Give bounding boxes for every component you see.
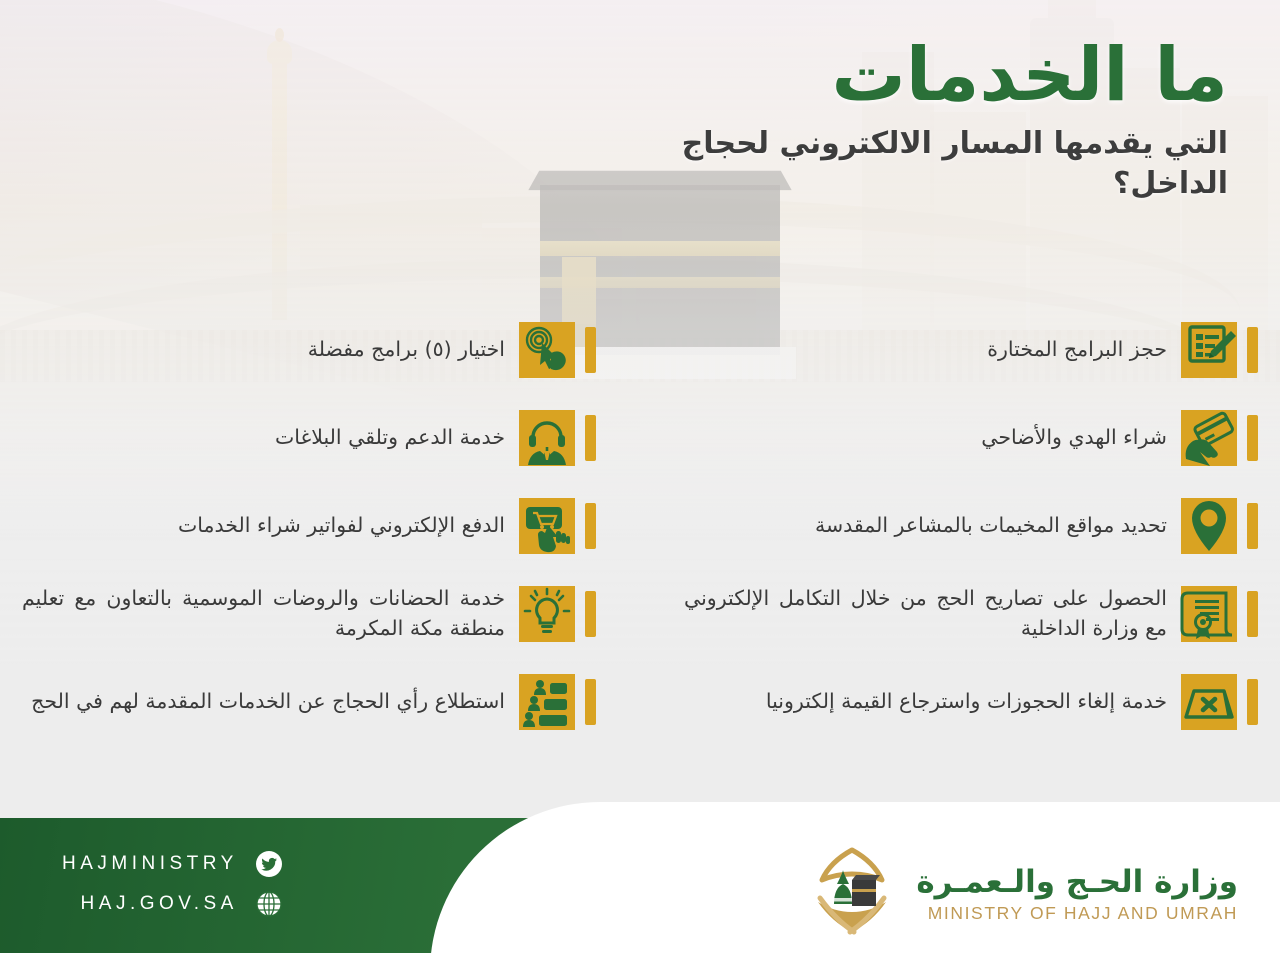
accent-bar [585,327,596,373]
service-item[interactable]: استطلاع رأي الحجاج عن الخدمات المقدمة له… [22,658,596,746]
service-item[interactable]: حجز البرامج المختارة [684,306,1258,394]
page-title: ما الخدمات [668,36,1228,114]
service-item[interactable]: الدفع الإلكتروني لفواتير شراء الخدمات [22,482,596,570]
icon-tile-group [1181,322,1258,378]
service-label: استطلاع رأي الحجاج عن الخدمات المقدمة له… [22,687,505,717]
infographic-poster: ما الخدمات التي يقدمها المسار الالكتروني… [0,0,1280,953]
social-row-website[interactable]: HAJ.GOV.SA [62,884,282,924]
ministry-brand-text: وزارة الحـج والـعمـرة MINISTRY OF HAJJ A… [916,864,1238,924]
accent-bar [585,679,596,725]
service-label: حجز البرامج المختارة [684,335,1167,365]
footer: HAJMINISTRY HAJ.GOV.SA وزارة الحـج والـع… [0,818,1280,953]
lightbulb-icon [519,586,575,642]
tap-hand-icon [519,322,575,378]
services-grid: اختيار (٥) برامج مفضلة [0,306,1280,786]
accent-bar [585,415,596,461]
header: ما الخدمات التي يقدمها المسار الالكتروني… [668,36,1228,204]
service-label: خدمة الحضانات والروضات الموسمية بالتعاون… [22,584,505,643]
ministry-name-arabic: وزارة الحـج والـعمـرة [916,864,1238,901]
service-item[interactable]: تحديد مواقع المخيمات بالمشاعر المقدسة [684,482,1258,570]
service-label: تحديد مواقع المخيمات بالمشاعر المقدسة [684,511,1167,541]
services-column-right: اختيار (٥) برامج مفضلة [0,306,640,786]
hand-card-icon [1181,410,1237,466]
service-label: شراء الهدي والأضاحي [684,423,1167,453]
icon-tile-group [519,322,596,378]
accent-bar [1247,679,1258,725]
cart-tap-icon [519,498,575,554]
service-item[interactable]: الحصول على تصاريح الحج من خلال التكامل ا… [684,570,1258,658]
service-item[interactable]: اختيار (٥) برامج مفضلة [22,306,596,394]
cancel-tent-icon [1181,674,1237,730]
icon-tile-group [519,586,596,642]
globe-icon [256,891,282,917]
accent-bar [1247,415,1258,461]
service-label: الدفع الإلكتروني لفواتير شراء الخدمات [22,511,505,541]
hajj-umrah-emblem [804,846,900,942]
icon-tile-group [1181,410,1258,466]
icon-tile-group [519,674,596,730]
service-label: خدمة الدعم وتلقي البلاغات [22,423,505,453]
icon-tile-group [1181,586,1258,642]
icon-tile-group [519,410,596,466]
service-label: خدمة إلغاء الحجوزات واسترجاع القيمة إلكت… [684,687,1167,717]
service-item[interactable]: شراء الهدي والأضاحي [684,394,1258,482]
icon-tile-group [519,498,596,554]
icon-tile-group [1181,498,1258,554]
accent-bar [1247,327,1258,373]
accent-bar [585,503,596,549]
service-label: اختيار (٥) برامج مفضلة [22,335,505,365]
service-label: الحصول على تصاريح الحج من خلال التكامل ا… [684,584,1167,643]
twitter-handle: HAJMINISTRY [62,853,238,875]
website-url: HAJ.GOV.SA [81,893,238,915]
certificate-seal-icon [1181,586,1237,642]
service-item[interactable]: خدمة الحضانات والروضات الموسمية بالتعاون… [22,570,596,658]
document-pencil-icon [1181,322,1237,378]
accent-bar [585,591,596,637]
service-item[interactable]: خدمة إلغاء الحجوزات واسترجاع القيمة إلكت… [684,658,1258,746]
ministry-brand: وزارة الحـج والـعمـرة MINISTRY OF HAJJ A… [804,846,1238,942]
survey-chart-icon [519,674,575,730]
map-pin-icon [1181,498,1237,554]
icon-tile-group [1181,674,1258,730]
support-headset-icon [519,410,575,466]
ministry-name-english: MINISTRY OF HAJJ AND UMRAH [916,903,1238,924]
accent-bar [1247,591,1258,637]
services-column-left: حجز البرامج المختارة [640,306,1280,786]
page-subtitle: التي يقدمها المسار الالكتروني لحجاج الدا… [668,124,1228,203]
accent-bar [1247,503,1258,549]
social-links: HAJMINISTRY HAJ.GOV.SA [62,844,282,924]
twitter-icon [256,851,282,877]
social-row-twitter[interactable]: HAJMINISTRY [62,844,282,884]
service-item[interactable]: خدمة الدعم وتلقي البلاغات [22,394,596,482]
